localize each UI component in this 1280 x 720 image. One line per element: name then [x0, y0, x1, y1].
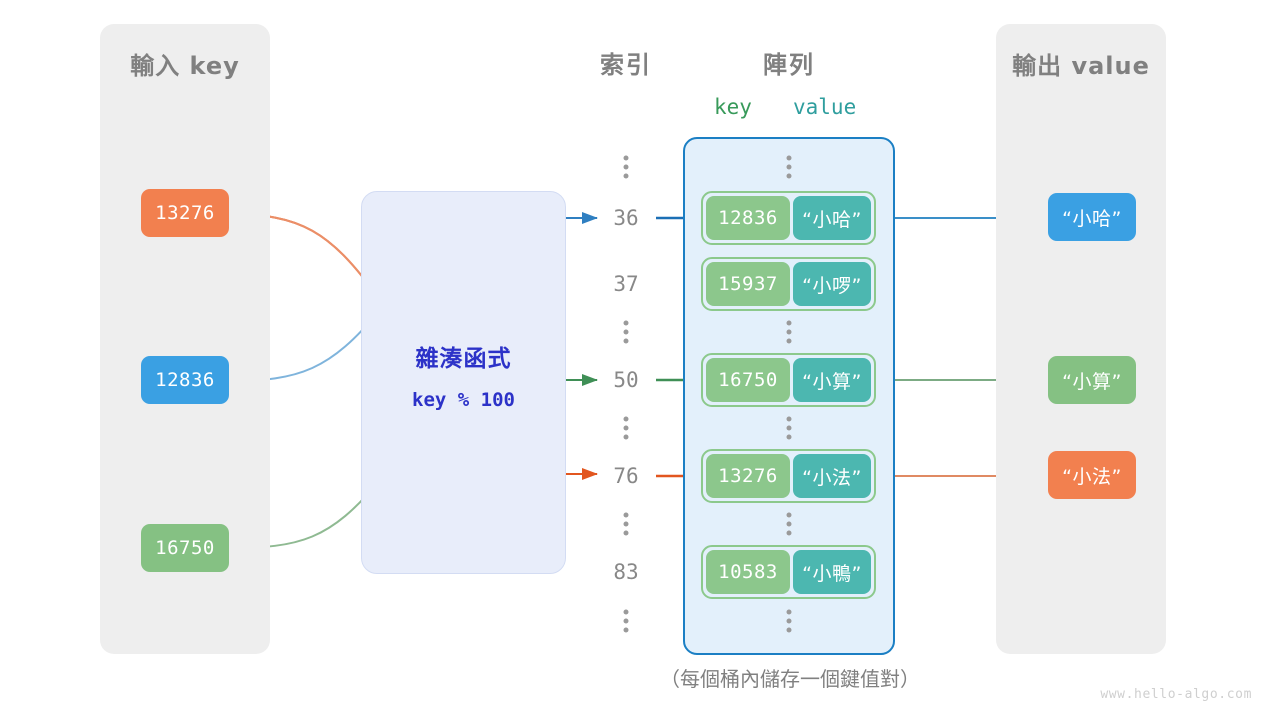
- bucket-key: 13276: [706, 454, 790, 498]
- bucket-key: 16750: [706, 358, 790, 402]
- index-ellipsis: [624, 321, 629, 344]
- bucket-key: 12836: [706, 196, 790, 240]
- output-value-box: “小法”: [1048, 451, 1136, 499]
- watermark: www.hello-algo.com: [1100, 687, 1252, 702]
- key-column-header: key: [714, 95, 752, 119]
- index-column-label: 索引: [588, 45, 664, 80]
- hash-function-box: 雜湊函式 key % 100: [361, 191, 566, 574]
- bucket: 10583“小鴨”: [701, 545, 876, 599]
- index-label: 36: [590, 206, 662, 230]
- input-key-box: 16750: [141, 524, 229, 572]
- bucket: 16750“小算”: [701, 353, 876, 407]
- output-panel-title: 輸出 value: [996, 46, 1166, 81]
- figure-caption: （每個桶內儲存一個鍵值對）: [600, 663, 980, 692]
- output-value-box: “小哈”: [1048, 193, 1136, 241]
- bucket-value: “小啰”: [793, 262, 871, 306]
- hash-function-expression: key % 100: [362, 389, 565, 411]
- bucket-value: “小哈”: [793, 196, 871, 240]
- bucket: 13276“小法”: [701, 449, 876, 503]
- array-ellipsis: [787, 610, 792, 633]
- value-column-header: value: [793, 95, 856, 119]
- index-label: 37: [590, 272, 662, 296]
- hash-function-name: 雜湊函式: [362, 339, 565, 373]
- output-value-panel: 輸出 value: [996, 24, 1166, 654]
- bucket-value: “小鴨”: [793, 550, 871, 594]
- output-value-box: “小算”: [1048, 356, 1136, 404]
- bucket: 12836“小哈”: [701, 191, 876, 245]
- input-panel-title: 輸入 key: [100, 46, 270, 81]
- index-ellipsis: [624, 417, 629, 440]
- index-label: 83: [590, 560, 662, 584]
- input-key-box: 12836: [141, 356, 229, 404]
- array-ellipsis: [787, 513, 792, 536]
- index-ellipsis: [624, 610, 629, 633]
- array-ellipsis: [787, 417, 792, 440]
- bucket-value: “小法”: [793, 454, 871, 498]
- bucket: 15937“小啰”: [701, 257, 876, 311]
- array-ellipsis: [787, 156, 792, 179]
- bucket-value: “小算”: [793, 358, 871, 402]
- index-label: 50: [590, 368, 662, 392]
- input-key-box: 13276: [141, 189, 229, 237]
- index-ellipsis: [624, 513, 629, 536]
- bucket-key: 15937: [706, 262, 790, 306]
- array-column-label: 陣列: [716, 45, 862, 80]
- index-ellipsis: [624, 156, 629, 179]
- index-label: 76: [590, 464, 662, 488]
- bucket-key: 10583: [706, 550, 790, 594]
- array-ellipsis: [787, 321, 792, 344]
